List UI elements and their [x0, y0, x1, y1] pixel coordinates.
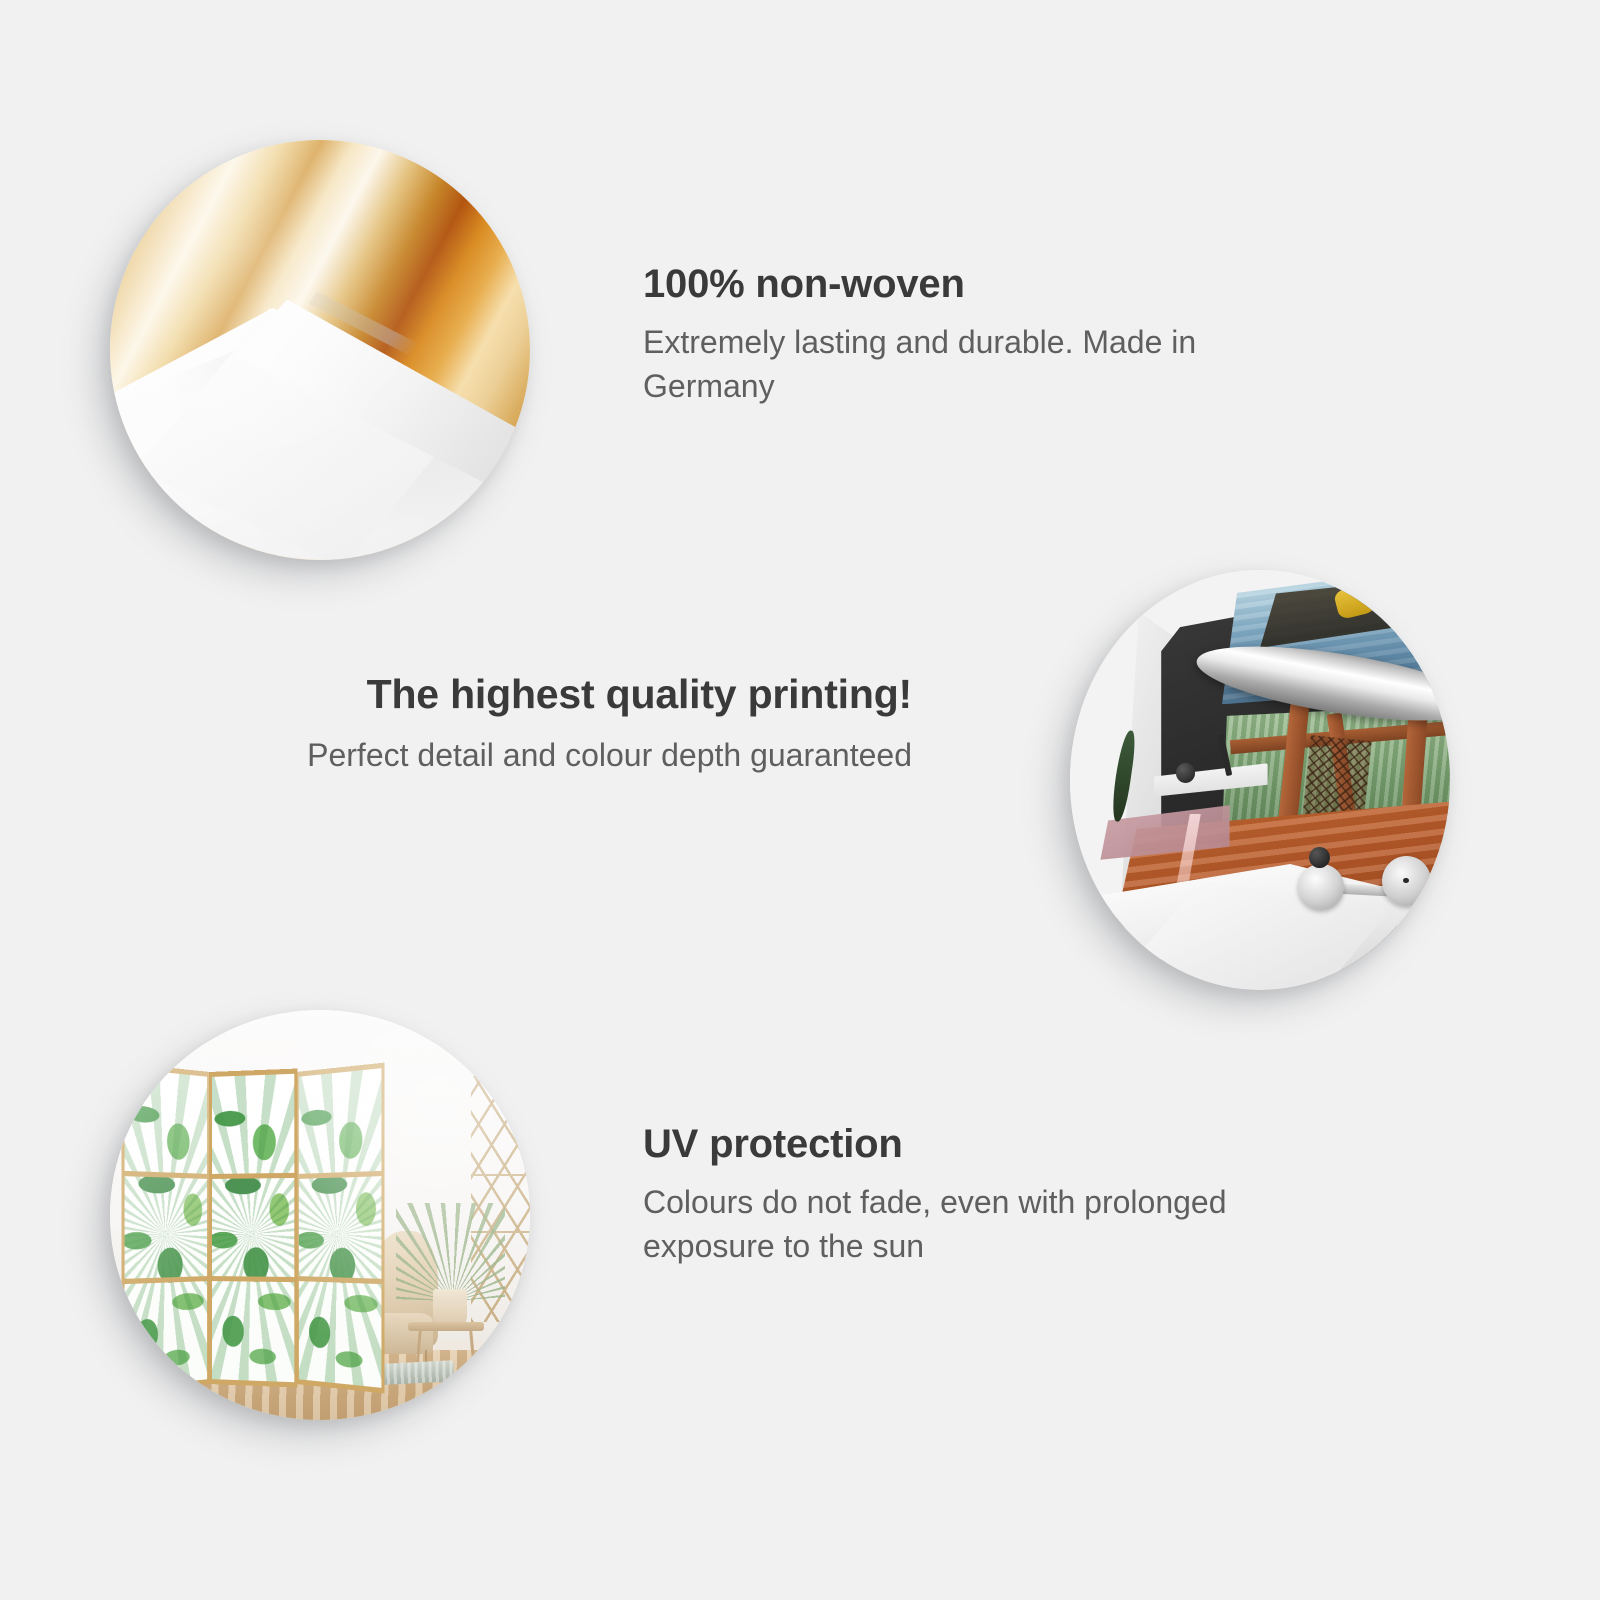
palm-frond-motif: [212, 1073, 294, 1381]
photo-sheen: [110, 140, 530, 560]
printing-press-machine-photo: [1070, 570, 1450, 990]
feature-image-uv-protection: [110, 1010, 530, 1420]
tropical-room-divider-screen-photo: [110, 1010, 530, 1420]
feature-title-uv-protection: UV protection: [643, 1122, 1263, 1166]
divider-panel-2: [209, 1068, 297, 1386]
divider-rail-upper: [212, 1172, 294, 1178]
press-wheel-right: [1382, 856, 1431, 906]
feature-description-uv-protection: Colours do not fade, even with prolonged…: [643, 1180, 1263, 1268]
feature-title-quality-printing: The highest quality printing!: [300, 672, 912, 717]
feature-image-non-woven: [110, 140, 530, 560]
feature-text-uv-protection: UV protection Colours do not fade, even …: [643, 1122, 1263, 1268]
divider-rail-lower: [212, 1276, 294, 1282]
feature-text-non-woven: 100% non-woven Extremely lasting and dur…: [643, 262, 1303, 408]
wallpaper-roll-peeled-corner-photo: [110, 140, 530, 560]
feature-collage: 100% non-woven Extremely lasting and dur…: [0, 0, 1600, 1600]
feature-image-quality-printing: [1070, 570, 1450, 990]
press-wheel-left: [1298, 864, 1344, 910]
feature-title-non-woven: 100% non-woven: [643, 262, 1303, 306]
press-knob-upper: [1176, 763, 1195, 782]
feature-description-non-woven: Extremely lasting and durable. Made in G…: [643, 320, 1303, 408]
room-light-wash: [110, 1010, 530, 1420]
press-knob-lower: [1309, 847, 1330, 868]
feature-description-quality-printing: Perfect detail and colour depth guarante…: [300, 733, 912, 777]
feature-text-quality-printing: The highest quality printing! Perfect de…: [300, 672, 912, 777]
